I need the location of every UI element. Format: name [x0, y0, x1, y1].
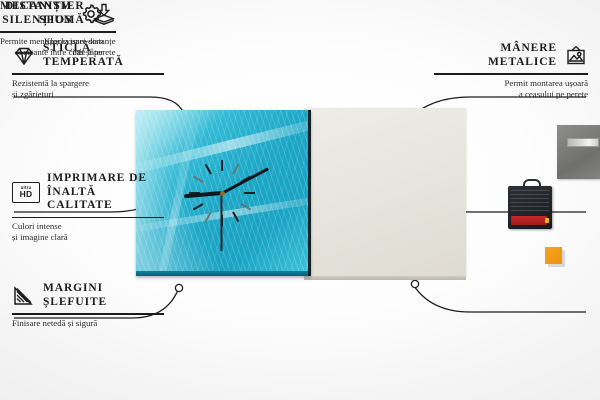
callout-desc: constante între ceas și perete: [0, 47, 116, 58]
anchor-spacer: [411, 280, 418, 287]
callout-desc: a ceasului pe perete: [434, 89, 588, 100]
callout-title: METALICE: [488, 56, 557, 70]
callout-polished-edges: MARGINI ȘLEFUITE Finisare netedă și sigu…: [12, 282, 164, 329]
callout-metal-handles: MÂNERE METALICE Permit montarea ușoară a…: [434, 42, 588, 100]
callout-title: MARGINI: [43, 282, 107, 296]
glass-sheen: [136, 113, 311, 177]
callout-title: IMPRIMARE DE: [47, 172, 164, 186]
callout-desc: Finisare netedă și sigură: [12, 318, 164, 329]
clock-center-cap: [220, 191, 225, 196]
callout-desc: Culori intense: [12, 221, 164, 232]
hanger-bracket: [567, 138, 599, 147]
callout-title: DISTANȚIER: [5, 0, 85, 14]
callout-title: SPUMĂ: [5, 14, 85, 28]
ultra-hd-icon: ultra HD: [12, 182, 40, 203]
callout-rule: [0, 31, 116, 33]
bevel-lines-icon: [12, 284, 36, 308]
anchor-edges: [175, 284, 182, 291]
foam-spacer: [545, 247, 562, 264]
connector-spacer: [414, 286, 586, 312]
product-image: [136, 108, 466, 280]
ultra-hd-icon-main: HD: [20, 190, 33, 199]
callout-desc: Permite menținerea unei distanțe: [0, 36, 116, 47]
callout-desc: și zgârieturi: [12, 89, 164, 100]
callout-desc: și imagine clară: [12, 232, 164, 243]
callout-rule: [12, 73, 164, 75]
framed-picture-icon: [564, 44, 588, 68]
callout-title: MÂNERE: [488, 42, 557, 56]
callout-title: ÎNALTĂ CALITATE: [47, 186, 164, 213]
callout-title: ȘLEFUITE: [43, 296, 107, 310]
infographic-canvas: STICLĂ TEMPERATĂ Rezistentă la spargere …: [0, 0, 600, 400]
clock-back-panel: [304, 108, 466, 276]
metal-hanger-swatch: [557, 125, 600, 179]
callout-rule: [12, 217, 164, 219]
callout-title: TEMPERATĂ: [43, 56, 124, 70]
callout-print-quality: ultra HD IMPRIMARE DE ÎNALTĂ CALITATE Cu…: [12, 172, 164, 243]
battery: [511, 216, 547, 225]
mechanism-label-print: [511, 189, 549, 211]
clock-mechanism: [508, 186, 552, 229]
callout-desc: Rezistentă la spargere: [12, 78, 164, 89]
callout-foam-spacer: DISTANȚIER SPUMĂ Permite menținerea unei…: [0, 0, 116, 58]
callout-desc: Permit montarea ușoară: [434, 78, 588, 89]
down-arrow-layer-icon: [92, 2, 116, 26]
callout-rule: [12, 313, 164, 315]
callout-rule: [434, 73, 588, 75]
